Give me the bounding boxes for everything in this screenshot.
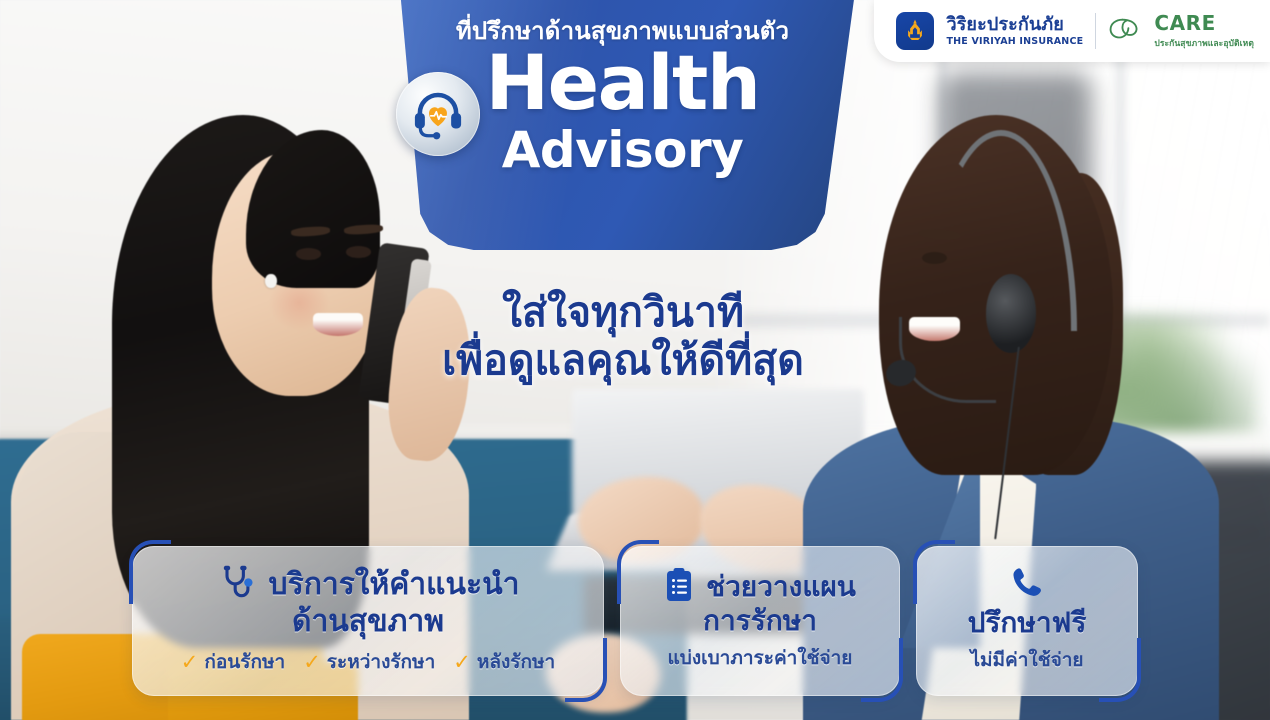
check-item: ✓ ระหว่างรักษา bbox=[303, 647, 435, 677]
phone-icon bbox=[1010, 565, 1044, 603]
check-label: ก่อนรักษา bbox=[204, 647, 285, 677]
card-subtitle: แบ่งเบาภาระค่าใช้จ่าย bbox=[668, 643, 853, 673]
banner-title-line2: Advisory bbox=[502, 125, 744, 175]
card-title-line1: ช่วยวางแผน bbox=[706, 571, 856, 602]
card-title-line2: การรักษา bbox=[703, 605, 817, 636]
eye bbox=[296, 248, 321, 260]
promotional-banner: ที่ปรึกษาด้านสุขภาพแบบส่วนตัว Health Adv… bbox=[0, 0, 1270, 720]
card-title-line2: ด้านสุขภาพ bbox=[292, 605, 444, 639]
eye bbox=[346, 246, 371, 258]
tagline-line1: ใส่ใจทุกวินาที bbox=[388, 288, 858, 336]
check-label: ระหว่างรักษา bbox=[327, 647, 435, 677]
check-icon: ✓ bbox=[453, 652, 471, 673]
check-icon: ✓ bbox=[303, 652, 321, 673]
card-subtitle: ไม่มีค่าใช้จ่าย bbox=[970, 645, 1083, 675]
banner-title-line1: Health bbox=[486, 46, 760, 120]
check-icon: ✓ bbox=[181, 652, 199, 673]
card-content: ปรึกษาฟรี ไม่มีค่าใช้จ่าย bbox=[968, 565, 1087, 675]
earring bbox=[265, 274, 276, 288]
tagline: ใส่ใจทุกวินาที เพื่อดูแลคุณให้ดีที่สุด bbox=[388, 288, 858, 385]
logo-lockup: วิริยะประกันภัย THE VIRIYAH INSURANCE CA… bbox=[874, 0, 1270, 62]
care-brand-name: CARE bbox=[1154, 13, 1254, 33]
care-brand-subtitle: ประกันสุขภาพและอุบัติเหตุ bbox=[1154, 36, 1254, 50]
card-title-line1: บริการให้คำแนะนำ bbox=[269, 568, 520, 602]
feature-card-free-consultation[interactable]: ปรึกษาฟรี ไม่มีค่าใช้จ่าย bbox=[916, 546, 1138, 696]
tagline-line2: เพื่อดูแลคุณให้ดีที่สุด bbox=[388, 336, 858, 384]
card-heading-row: บริการให้คำแนะนำ bbox=[217, 563, 520, 607]
viriyah-emblem-icon bbox=[896, 12, 934, 50]
check-item: ✓ หลังรักษา bbox=[453, 647, 555, 677]
headset-heart-icon bbox=[396, 72, 480, 156]
brand-name-english: THE VIRIYAH INSURANCE bbox=[946, 36, 1083, 47]
check-item: ✓ ก่อนรักษา bbox=[181, 647, 285, 677]
card-heading-row: ช่วยวางแผน bbox=[664, 567, 856, 607]
card-title-line1: ปรึกษาฟรี bbox=[968, 607, 1087, 638]
check-label: หลังรักษา bbox=[477, 647, 555, 677]
logo-divider bbox=[1095, 13, 1096, 49]
check-list: ✓ ก่อนรักษา ✓ ระหว่างรักษา ✓ หลังรักษา bbox=[181, 647, 555, 677]
viriyah-wordmark: วิริยะประกันภัย THE VIRIYAH INSURANCE bbox=[946, 16, 1083, 47]
care-leaf-icon bbox=[1108, 16, 1142, 46]
clipboard-icon bbox=[664, 567, 694, 607]
care-wordmark: CARE ประกันสุขภาพและอุบัติเหตุ bbox=[1154, 13, 1254, 50]
feature-card-health-advice[interactable]: บริการให้คำแนะนำ ด้านสุขภาพ ✓ ก่อนรักษา … bbox=[132, 546, 604, 696]
stethoscope-icon bbox=[217, 563, 257, 607]
feature-cards: บริการให้คำแนะนำ ด้านสุขภาพ ✓ ก่อนรักษา … bbox=[132, 546, 1162, 696]
brand-name-thai: วิริยะประกันภัย bbox=[946, 16, 1083, 34]
feature-card-treatment-planning[interactable]: ช่วยวางแผน การรักษา แบ่งเบาภาระค่าใช้จ่า… bbox=[620, 546, 900, 696]
